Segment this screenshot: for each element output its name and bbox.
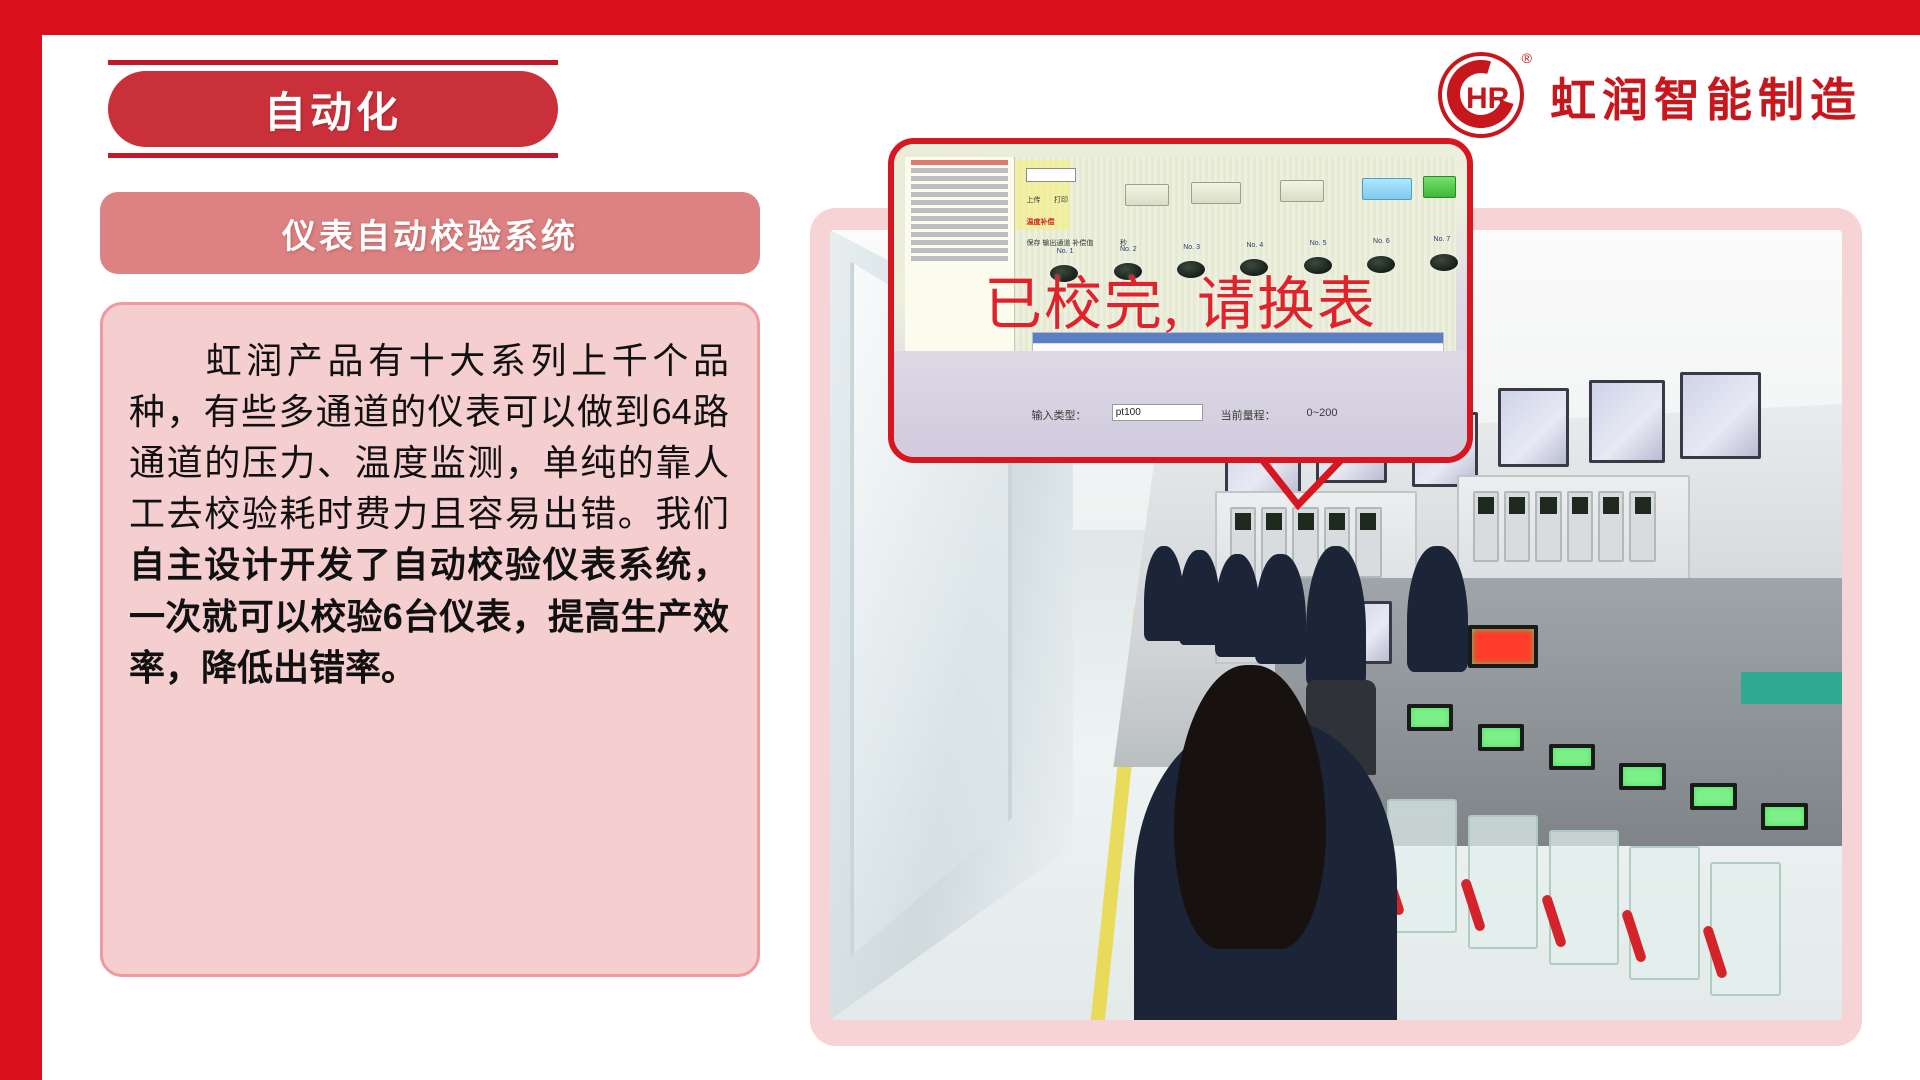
photo-channel-meter (1690, 783, 1737, 810)
hr-logo-icon: HR ® (1438, 52, 1528, 142)
title-rule-bottom (108, 153, 558, 158)
software-checkbox-save-offset[interactable]: 保存 输出通道 补偿值 (1026, 238, 1093, 248)
brand-logo: HR ® 虹润智能制造 (1438, 52, 1862, 142)
software-range-value: 0~200 (1307, 407, 1338, 419)
page-title: 自动化 (264, 79, 402, 140)
photo-channel-meter (1549, 744, 1596, 771)
software-channel-label: No. 7 (1434, 236, 1451, 243)
software-channel-label: No. 5 (1310, 240, 1327, 247)
photo-monitor (1680, 372, 1761, 459)
software-button-stop[interactable] (1423, 176, 1456, 198)
software-button-calibrate[interactable] (1280, 180, 1324, 202)
software-channel-label: No. 3 (1183, 244, 1200, 251)
photo-instrument (1473, 491, 1499, 562)
software-input-type-field[interactable]: pt100 (1112, 404, 1204, 421)
section-title-block: 自动化 (108, 60, 558, 158)
photo-worker (1255, 554, 1306, 665)
frame-left-gap (42, 35, 60, 1080)
software-checkbox-temp-comp[interactable]: 温度补偿 (1026, 217, 1054, 227)
photo-worker (1179, 550, 1219, 645)
software-channel-label: No. 2 (1120, 246, 1137, 253)
left-column: 自动化 仪表自动校验系统 虹润产品有十大系列上千个品种，有些多通道的仪表可以做到… (100, 60, 760, 977)
callout-tail-icon (1258, 455, 1344, 511)
photo-instrument (1535, 491, 1561, 562)
logo-registered-icon: ® (1522, 50, 1532, 66)
photo-channel-meter (1407, 704, 1454, 731)
body-text-card: 虹润产品有十大系列上千个品种，有些多通道的仪表可以做到64路通道的压力、温度监测… (100, 302, 760, 977)
section-subtitle: 仪表自动校验系统 (282, 209, 578, 258)
body-text-bold: 自主设计开发了自动校验仪表系统，一次就可以校验6台仪表，提高生产效率，降低出错率… (129, 544, 729, 687)
software-channel-label: No. 4 (1247, 242, 1264, 249)
title-rule-top (108, 60, 558, 65)
software-button-short[interactable] (1191, 182, 1241, 204)
frame-top-bar (0, 0, 1920, 35)
brand-name: 虹润智能制造 (1550, 64, 1862, 130)
section-subtitle-bar: 仪表自动校验系统 (100, 192, 760, 274)
software-range-label: 当前量程： (1221, 407, 1276, 423)
photo-instrument (1355, 507, 1381, 578)
body-text-normal: 虹润产品有十大系列上千个品种，有些多通道的仪表可以做到64路通道的压力、温度监测… (129, 340, 729, 534)
software-port-select[interactable] (1026, 168, 1076, 182)
logo-hr-text: HR (1466, 82, 1509, 116)
slide-root: HR ® 虹润智能制造 自动化 仪表自动校验系统 虹润产品有十大系列上千个品种，… (0, 0, 1920, 1080)
photo-instrument (1567, 491, 1593, 562)
software-input-type-label: 输入类型： (1032, 407, 1087, 423)
calibration-status-message: 已校完, 请换表 (894, 257, 1467, 341)
software-channel-label: No. 1 (1057, 248, 1074, 255)
frame-bottom-stub (0, 1045, 42, 1080)
photo-worker (1407, 546, 1468, 672)
software-checkbox-upload[interactable]: 上传 (1026, 195, 1040, 205)
photo-channel-meter (1761, 803, 1808, 830)
photo-monitor (1589, 380, 1665, 463)
photo-channel-meter (1619, 763, 1666, 790)
photo-instrument (1629, 491, 1655, 562)
software-button-close[interactable] (1125, 184, 1169, 206)
body-paragraph: 虹润产品有十大系列上千个品种，有些多通道的仪表可以做到64路通道的压力、温度监测… (129, 335, 729, 693)
photo-monitor (1498, 388, 1569, 467)
photo-led-display (1468, 625, 1539, 668)
photo-instrument (1598, 491, 1624, 562)
software-channel-label: No. 6 (1373, 238, 1390, 245)
photo-instrument (1504, 491, 1530, 562)
software-button-auto[interactable] (1362, 178, 1412, 200)
photo-channel-meter (1478, 724, 1525, 751)
photo-esd-mat (1741, 672, 1842, 704)
photo-worker (1215, 554, 1261, 657)
software-callout-bubble: 上传 打印 温度补偿 保存 输出通道 补偿值 秒 No. 1 No. 2 No.… (888, 138, 1473, 463)
software-checkbox-print[interactable]: 打印 (1054, 195, 1068, 205)
section-title-pill: 自动化 (108, 71, 558, 147)
frame-left-bar (0, 0, 42, 1080)
